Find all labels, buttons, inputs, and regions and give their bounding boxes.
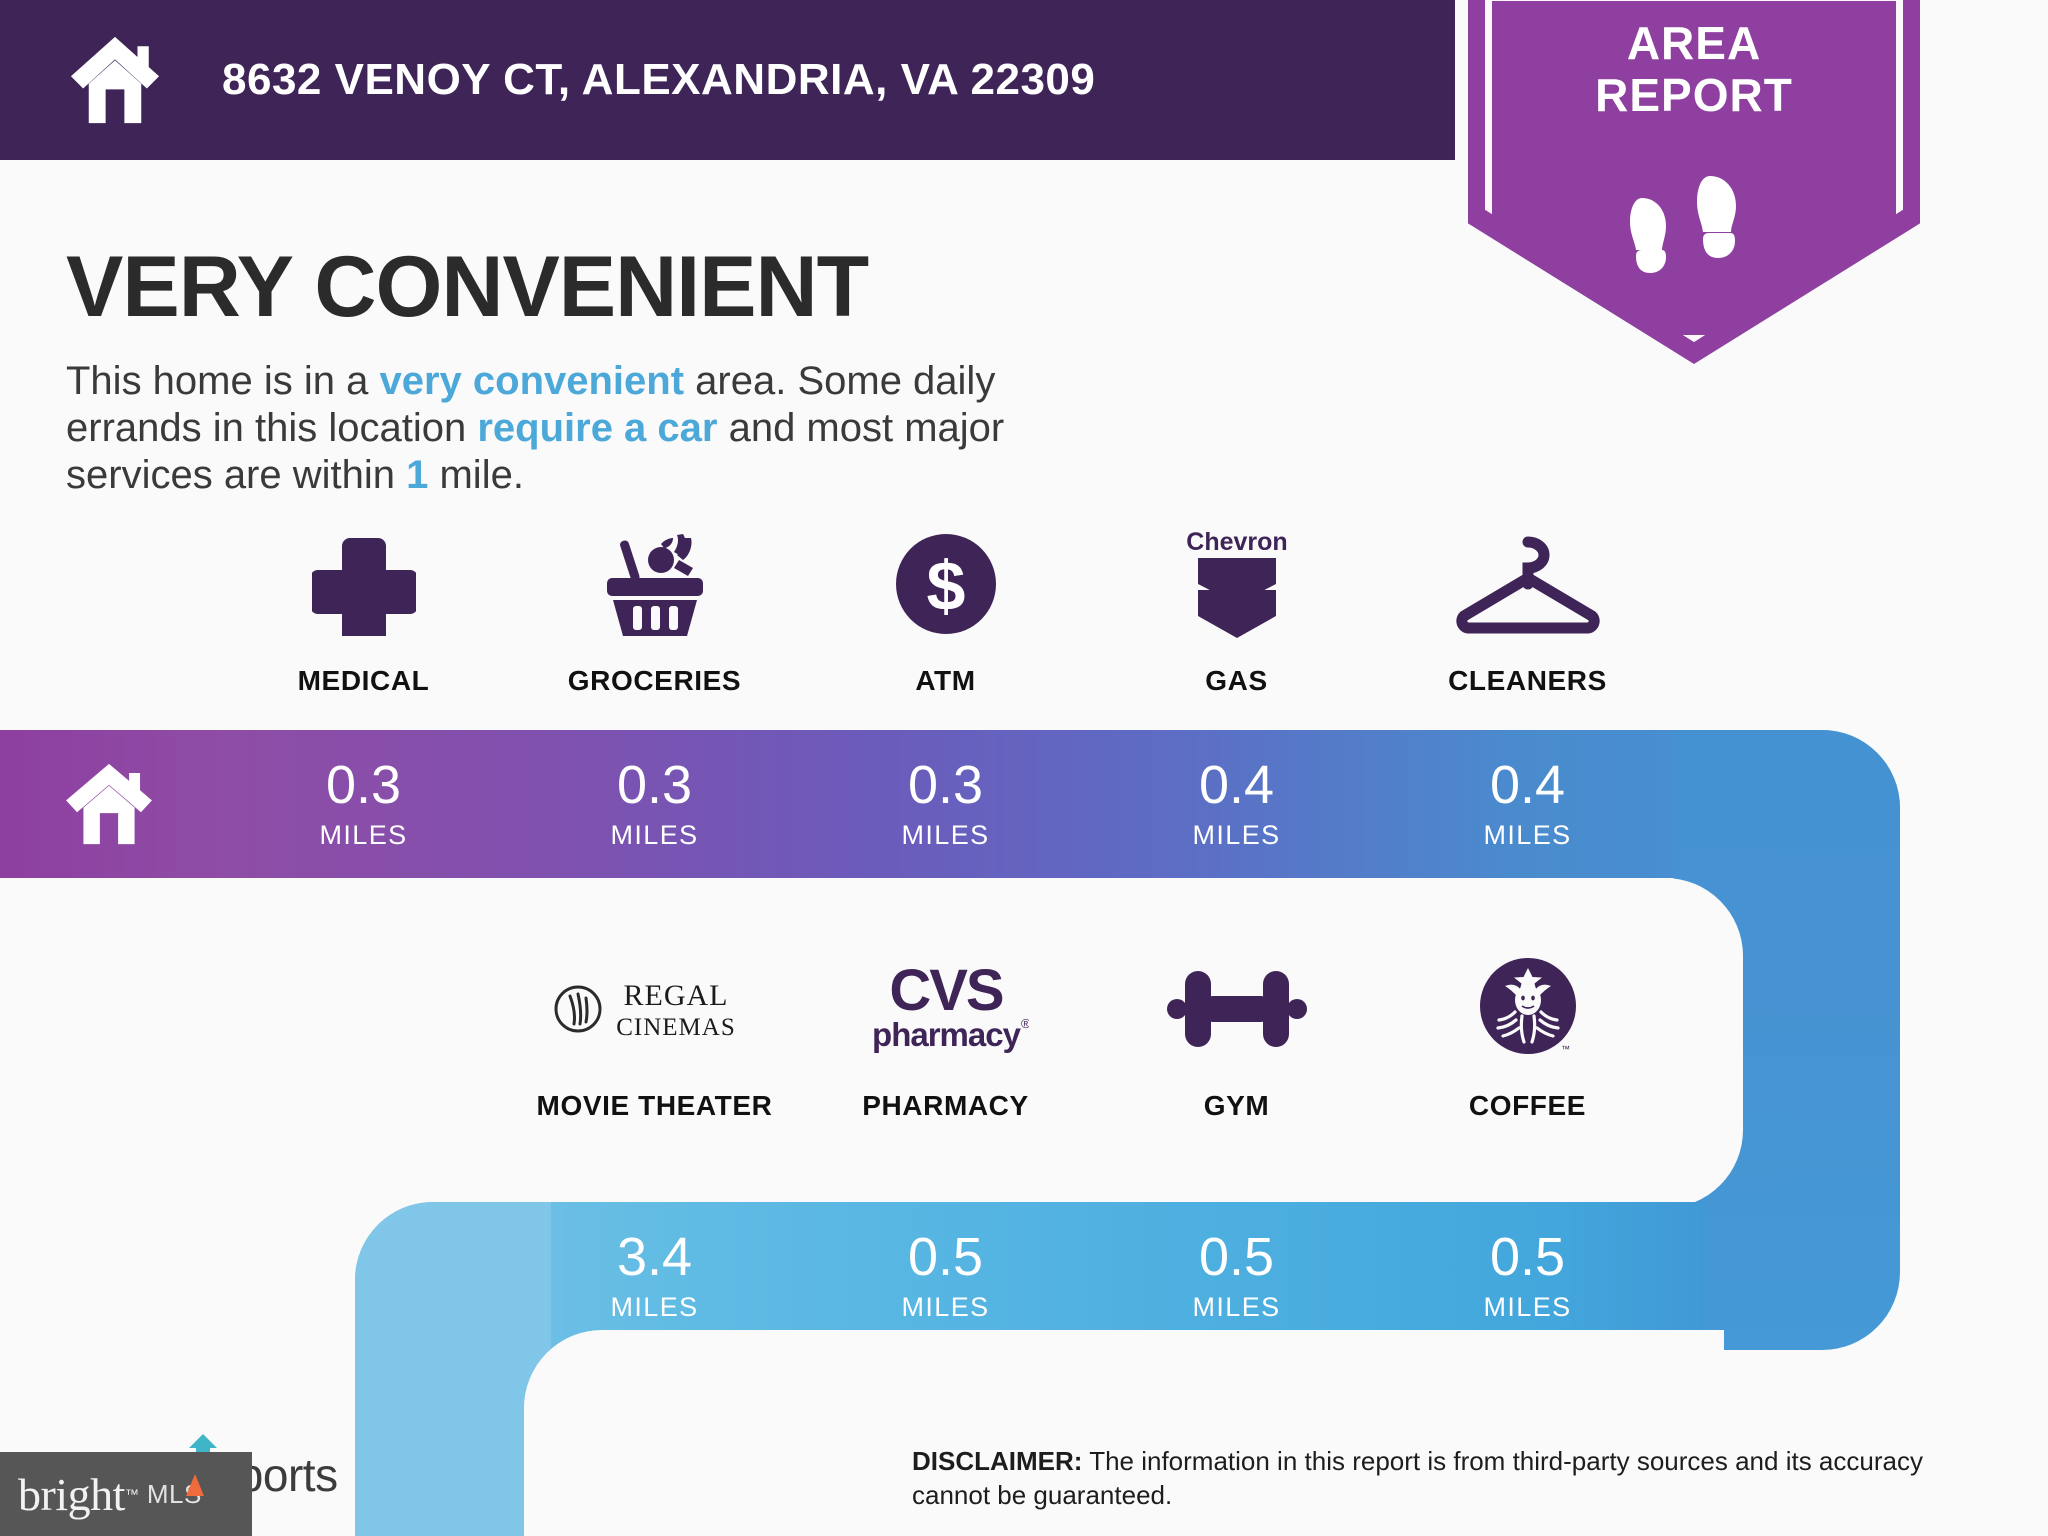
area-report-badge-text: AREA REPORT — [1468, 18, 1920, 121]
row1-item-groceries[interactable]: GROCERIES — [509, 525, 800, 697]
hanger-icon — [1454, 525, 1602, 643]
distance-cell-atm: 0.3 MILES — [800, 730, 1091, 878]
row1-item-cleaners[interactable]: CLEANERS — [1382, 525, 1673, 697]
row2-label-gym: GYM — [1204, 1090, 1270, 1122]
row1-label-atm: ATM — [915, 665, 975, 697]
distance-unit: MILES — [610, 820, 698, 851]
svg-text:™: ™ — [1561, 1044, 1570, 1054]
home-cell-row1 — [0, 730, 218, 878]
home-icon — [68, 35, 162, 125]
distance-unit: MILES — [1192, 820, 1280, 851]
distance-unit: MILES — [1483, 820, 1571, 851]
distance-unit: MILES — [1192, 1292, 1280, 1323]
distance-cell-medical: 0.3 MILES — [218, 730, 509, 878]
hero-highlight-3: 1 — [406, 453, 428, 497]
row1-label-cleaners: CLEANERS — [1448, 665, 1607, 697]
svg-text:CINEMAS: CINEMAS — [616, 1014, 736, 1041]
property-address: 8632 VENOY CT, ALEXANDRIA, VA 22309 — [222, 55, 1095, 105]
dollar-circle-icon: $ — [894, 525, 998, 643]
svg-text:pharmacy: pharmacy — [872, 1016, 1022, 1053]
cvs-pharmacy-logo-icon: CVS pharmacy ® — [863, 950, 1029, 1068]
area-report-page: 8632 VENOY CT, ALEXANDRIA, VA 22309 AREA… — [0, 0, 2048, 1536]
svg-text:$: $ — [926, 547, 965, 625]
hero-highlight-2: require a car — [477, 406, 717, 450]
row2-label-coffee: COFFEE — [1469, 1090, 1586, 1122]
distance-unit: MILES — [901, 1292, 989, 1323]
distance-value: 0.4 — [1199, 758, 1274, 812]
brand-name: bright — [18, 1468, 125, 1521]
medical-cross-icon — [312, 525, 416, 643]
row1-item-gas[interactable]: Chevron GAS — [1091, 525, 1382, 697]
distance-cell-gas: 0.4 MILES — [1091, 730, 1382, 878]
distance-value: 0.5 — [908, 1230, 983, 1284]
row2-item-pharmacy[interactable]: CVS pharmacy ® PHARMACY — [800, 950, 1091, 1122]
row1-label-groceries: GROCERIES — [568, 665, 741, 697]
distance-unit: MILES — [901, 820, 989, 851]
disclaimer-label: DISCLAIMER: — [912, 1446, 1082, 1476]
row2-label-movie-theater: MOVIE THEATER — [537, 1090, 773, 1122]
distance-cell-gym: 0.5 MILES — [1091, 1202, 1382, 1350]
row1-label-gas: GAS — [1205, 665, 1267, 697]
row1-label-medical: MEDICAL — [298, 665, 430, 697]
row1-icon-row: MEDICAL — [218, 525, 1673, 697]
starbucks-logo-icon: ™ — [1475, 950, 1581, 1068]
brand-spark-icon — [186, 1474, 204, 1496]
hero-highlight-1: very convenient — [379, 359, 684, 403]
row2-item-movie-theater[interactable]: REGAL CINEMAS MOVIE THEATER — [509, 950, 800, 1122]
distance-value: 0.3 — [617, 758, 692, 812]
distance-unit: MILES — [1483, 1292, 1571, 1323]
grocery-basket-icon — [599, 525, 711, 643]
row2-item-coffee[interactable]: ™ COFFEE — [1382, 950, 1673, 1122]
distance-value: 0.3 — [908, 758, 983, 812]
row2-icon-row: REGAL CINEMAS MOVIE THEATER CVS pharmacy… — [509, 950, 1673, 1122]
svg-text:REGAL: REGAL — [623, 979, 728, 1012]
distance-cell-pharmacy: 0.5 MILES — [800, 1202, 1091, 1350]
row2-item-gym[interactable]: GYM — [1091, 950, 1382, 1122]
chevron-logo-icon: Chevron — [1176, 525, 1298, 643]
distance-cell-groceries: 0.3 MILES — [509, 730, 800, 878]
svg-text:Chevron: Chevron — [1186, 528, 1287, 556]
distance-value: 0.5 — [1490, 1230, 1565, 1284]
page-title: VERY CONVENIENT — [66, 238, 868, 337]
distance-value: 0.3 — [326, 758, 401, 812]
svg-text:CVS: CVS — [889, 962, 1003, 1023]
regal-cinemas-logo-icon: REGAL CINEMAS — [550, 950, 760, 1068]
bright-mls-logo: bright ™ MLS — [0, 1452, 252, 1536]
distance-value: 0.4 — [1490, 758, 1565, 812]
row1-item-atm[interactable]: $ ATM — [800, 525, 1091, 697]
distance-unit: MILES — [610, 1292, 698, 1323]
distance-unit: MILES — [319, 820, 407, 851]
disclaimer: DISCLAIMER: The information in this repo… — [912, 1444, 1972, 1513]
brand-tm: ™ — [125, 1486, 139, 1502]
badge-line-2: REPORT — [1468, 70, 1920, 122]
distance-cell-coffee: 0.5 MILES — [1382, 1202, 1673, 1350]
hero-text-4: mile. — [428, 453, 524, 497]
badge-line-1: AREA — [1468, 18, 1920, 70]
distance-cell-movie-theater: 3.4 MILES — [509, 1202, 800, 1350]
row1-item-medical[interactable]: MEDICAL — [218, 525, 509, 697]
dumbbell-icon — [1167, 950, 1307, 1068]
distance-cell-cleaners: 0.4 MILES — [1382, 730, 1673, 878]
distance-value: 3.4 — [617, 1230, 692, 1284]
hero-description: This home is in a very convenient area. … — [66, 358, 1136, 500]
distance-value: 0.5 — [1199, 1230, 1274, 1284]
hero-text-1: This home is in a — [66, 359, 379, 403]
svg-text:®: ® — [1021, 1016, 1029, 1031]
row2-label-pharmacy: PHARMACY — [862, 1090, 1029, 1122]
header-bar: 8632 VENOY CT, ALEXANDRIA, VA 22309 — [0, 0, 1455, 160]
footprints-icon — [1468, 168, 1920, 293]
